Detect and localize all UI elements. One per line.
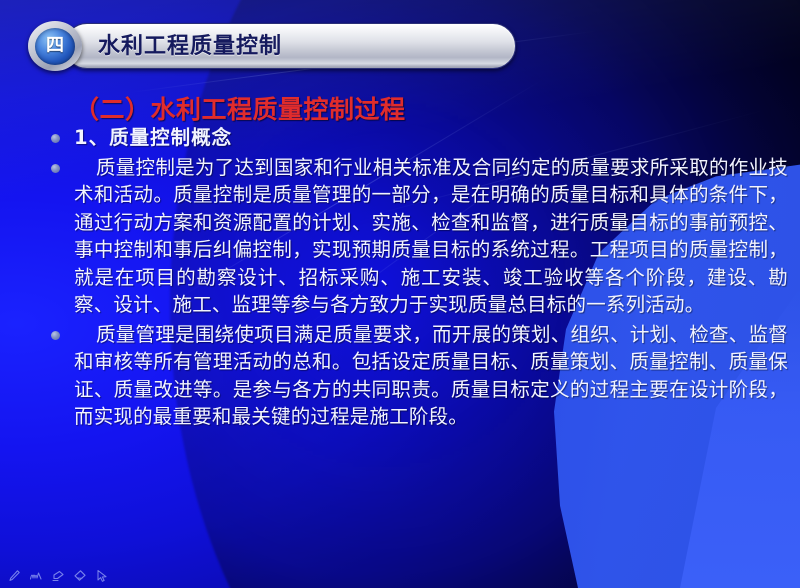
section-number-label: 四: [46, 37, 64, 55]
bullet-icon: [51, 164, 60, 173]
section-number-badge-inner: 四: [35, 28, 75, 65]
annotation-toolbar[interactable]: [6, 568, 109, 583]
slide-body: 1、质量控制概念 质量控制是为了达到国家和行业相关标准及合同约定的质量要求所采取…: [20, 124, 788, 433]
arrow-pointer-icon[interactable]: [94, 568, 109, 583]
bullet-icon: [51, 331, 60, 340]
body-paragraph: 质量控制是为了达到国家和行业相关标准及合同约定的质量要求所采取的作业技术和活动。…: [20, 154, 788, 319]
body-paragraph-text: 质量控制是为了达到国家和行业相关标准及合同约定的质量要求所采取的作业技术和活动。…: [74, 154, 788, 319]
bullet-icon: [51, 134, 60, 143]
body-paragraph: 1、质量控制概念: [20, 124, 788, 152]
body-paragraph-text: 1、质量控制概念: [74, 124, 788, 152]
body-paragraph: 质量管理是围绕使项目满足质量要求，而开展的策划、组织、计划、检查、监督和审核等所…: [20, 321, 788, 431]
highlighter-icon[interactable]: [50, 568, 65, 583]
slide-title: 水利工程质量控制: [98, 28, 282, 60]
pen-icon[interactable]: [6, 568, 21, 583]
title-banner: 水利工程质量控制 四: [28, 21, 520, 71]
body-paragraph-text: 质量管理是围绕使项目满足质量要求，而开展的策划、组织、计划、检查、监督和审核等所…: [74, 321, 788, 431]
presentation-slide: 水利工程质量控制 四 （二）水利工程质量控制过程 1、质量控制概念 质量控制是为…: [0, 0, 800, 588]
section-heading: （二）水利工程质量控制过程: [74, 90, 406, 126]
ink-scribble-icon[interactable]: [28, 568, 43, 583]
section-number-badge: 四: [28, 21, 82, 71]
eraser-icon[interactable]: [72, 568, 87, 583]
